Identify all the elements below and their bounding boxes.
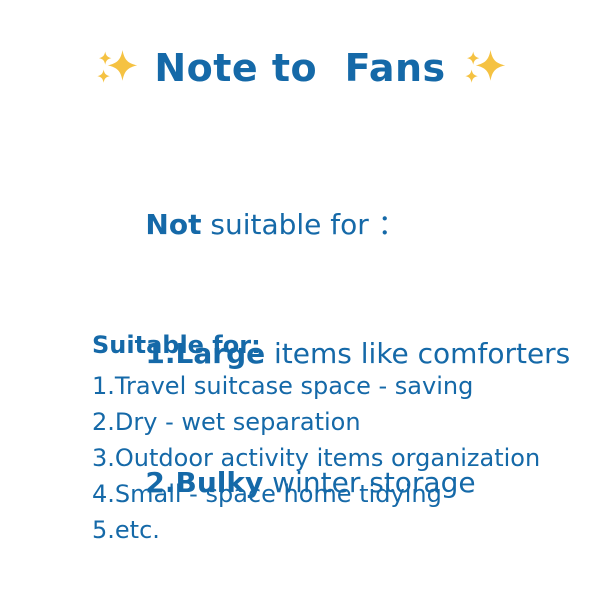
page-title: Note to Fans	[154, 49, 445, 87]
suitable-section: Suitable for: 1.Travel suitcase space - …	[92, 328, 572, 548]
note-to-fans-card: Note to Fans Not suitable for ： 1.Large …	[0, 0, 600, 600]
suitable-item-1: 1.Travel suitcase space - saving	[92, 368, 572, 404]
suitable-item-5: 5.etc.	[92, 512, 572, 548]
suitable-item-3: 3.Outdoor activity items organization	[92, 440, 572, 476]
sparkles-icon-right	[460, 44, 508, 92]
suitable-heading: Suitable for:	[92, 328, 572, 362]
suitable-item-4: 4.Small - space home tidying	[92, 476, 572, 512]
not-suitable-heading: Not suitable for ：	[92, 160, 572, 289]
sparkles-icon-left	[92, 44, 140, 92]
not-suitable-heading-bold: Not	[145, 208, 201, 241]
suitable-item-2: 2.Dry - wet separation	[92, 404, 572, 440]
not-suitable-heading-rest: suitable for ：	[201, 208, 405, 241]
page-title-row: Note to Fans	[0, 44, 600, 92]
